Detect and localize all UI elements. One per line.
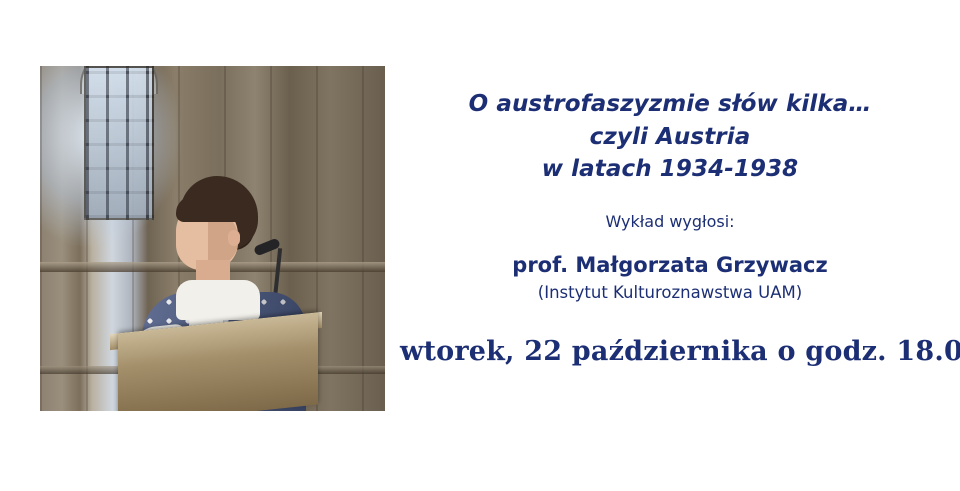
speaker-photo <box>40 66 385 411</box>
hair-fringe <box>176 196 244 222</box>
title-line-3: w latach 1934-1938 <box>400 153 940 186</box>
poster-title: O austrofaszyzmie słów kilka… czyli Aust… <box>400 88 940 186</box>
poster-text-column: O austrofaszyzmie słów kilka… czyli Aust… <box>400 66 940 367</box>
lecture-intro-label: Wykład wygłosi: <box>400 212 940 231</box>
speaker-affiliation: (Instytut Kulturoznawstwa UAM) <box>400 283 940 302</box>
title-line-2: czyli Austria <box>400 121 940 154</box>
speaker-name: prof. Małgorzata Grzywacz <box>400 253 940 277</box>
title-line-1: O austrofaszyzmie słów kilka… <box>400 88 940 121</box>
poster-canvas: O austrofaszyzmie słów kilka… czyli Aust… <box>0 0 960 491</box>
ear <box>228 230 240 246</box>
event-datetime: wtorek, 22 października o godz. 18.00 <box>400 336 940 367</box>
collar <box>176 280 260 320</box>
photo-background-hall <box>40 66 385 411</box>
